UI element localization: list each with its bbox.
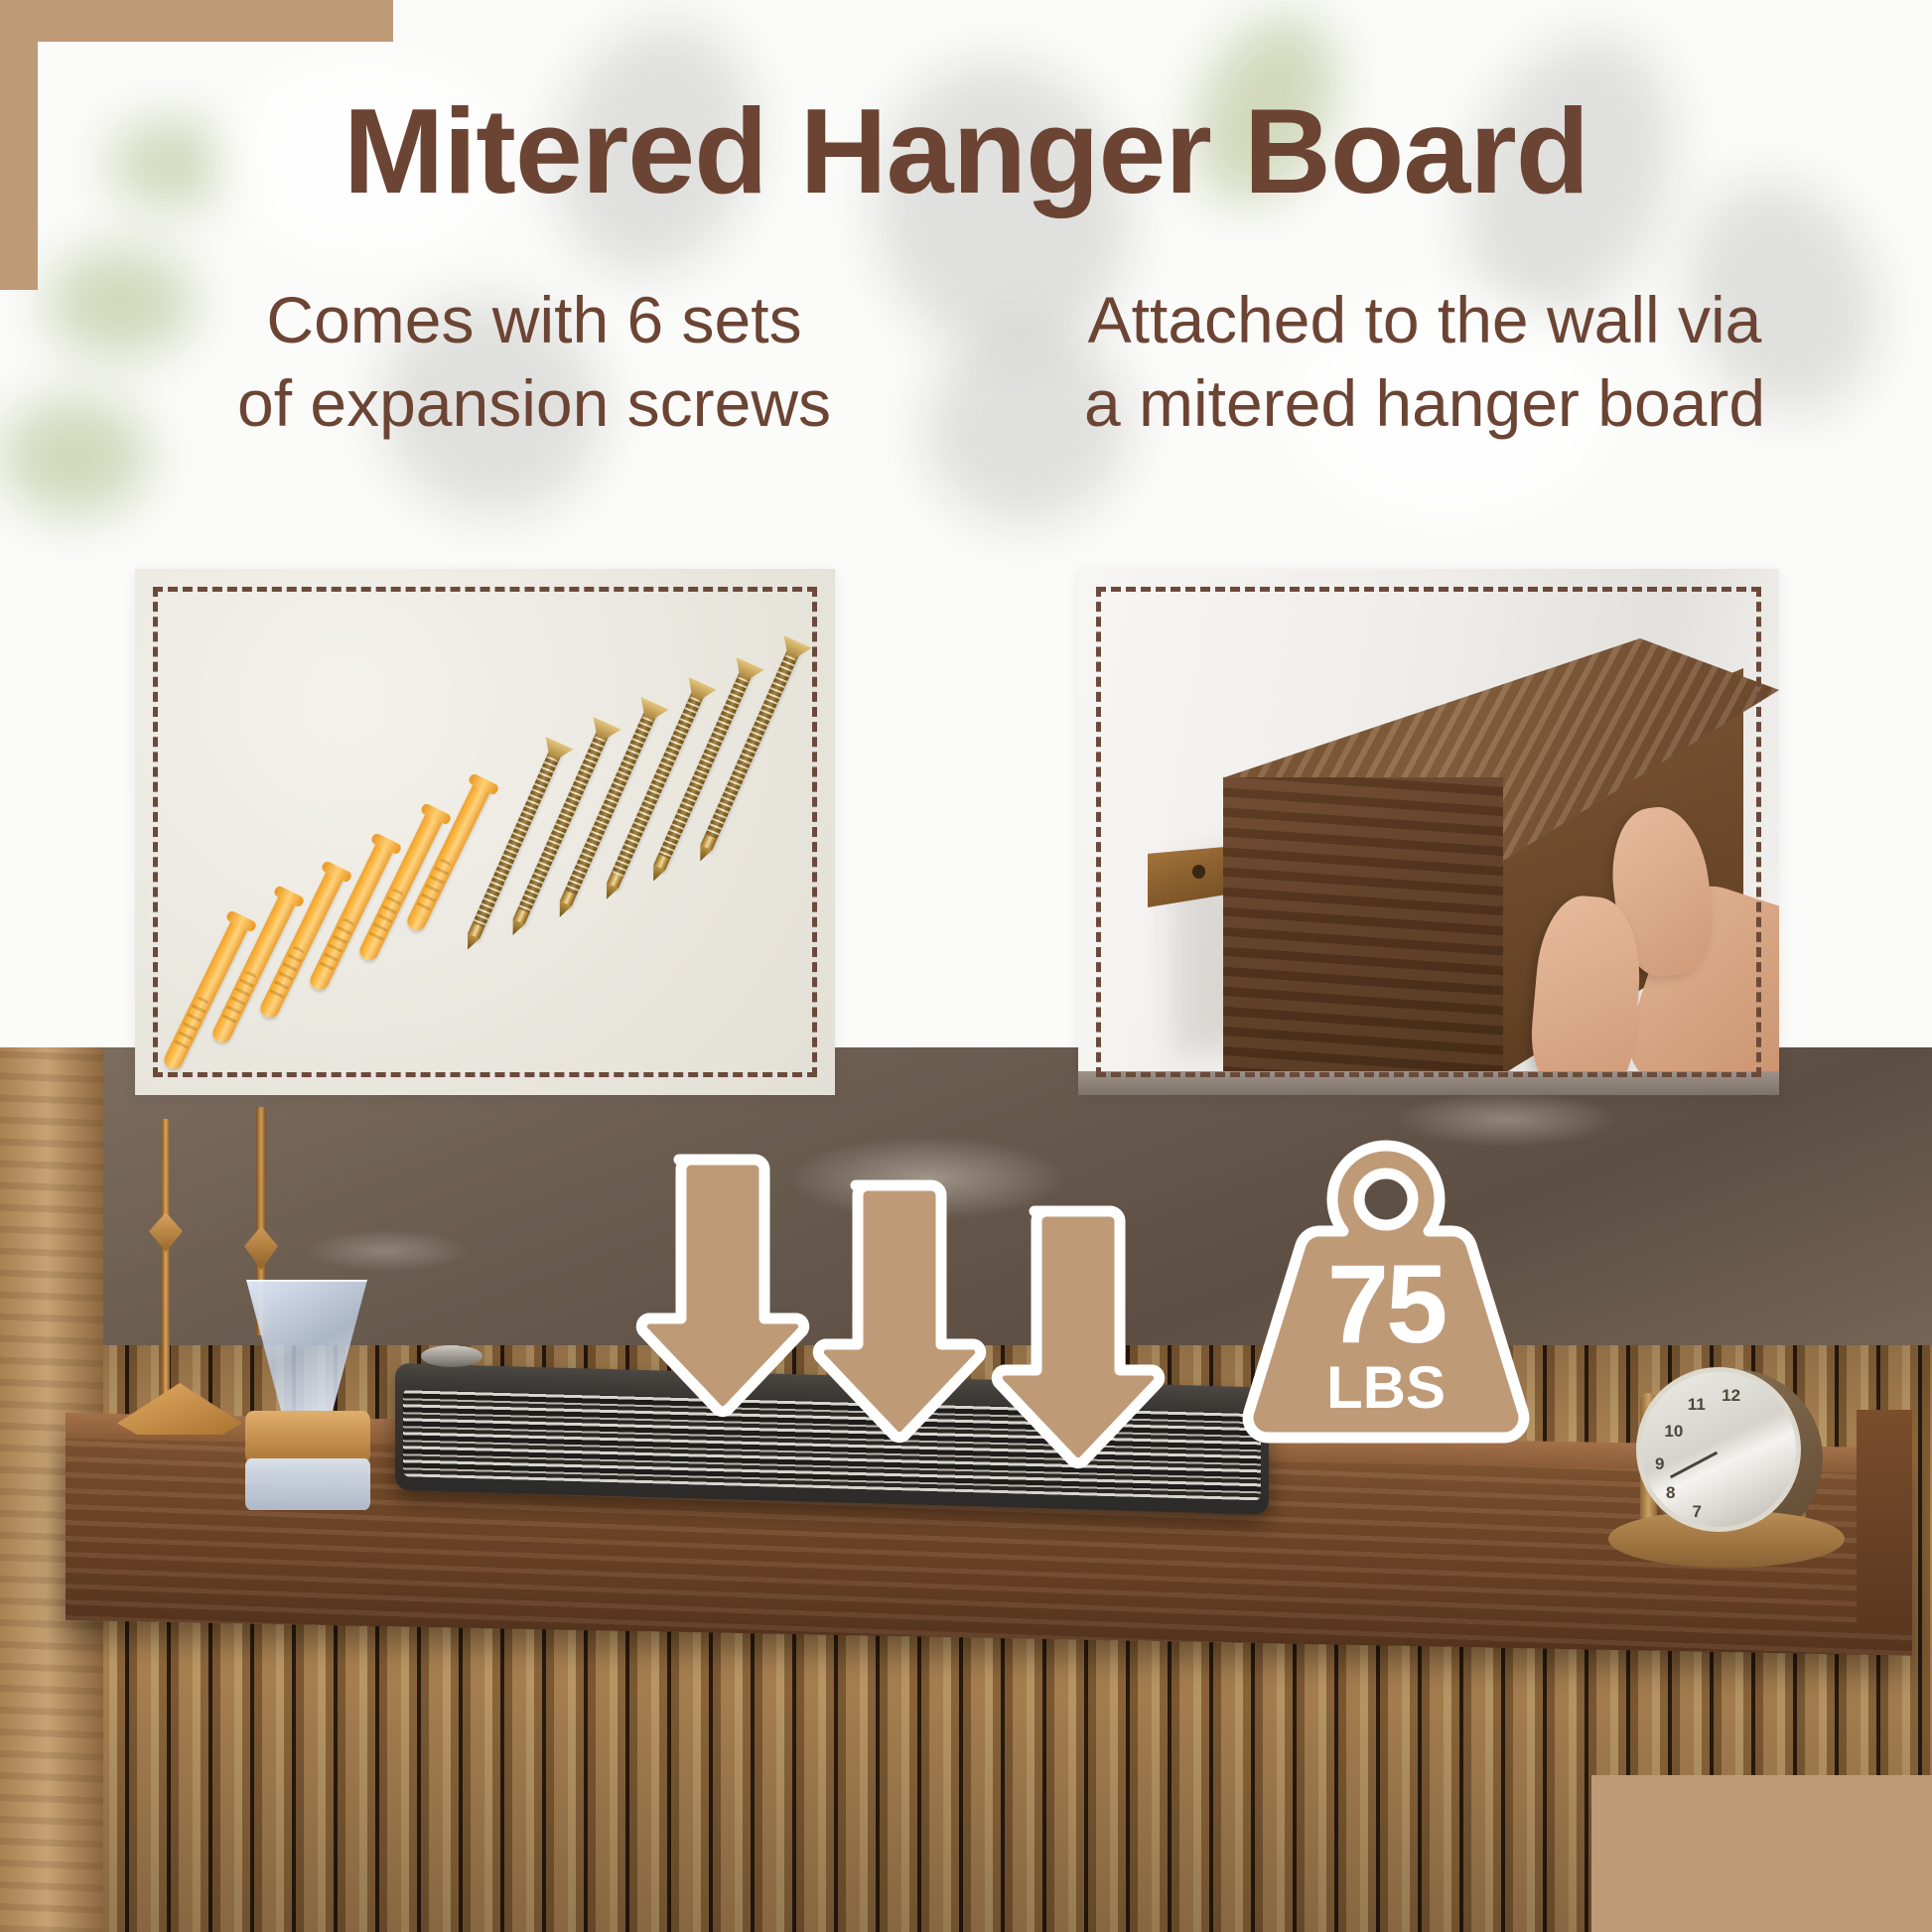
load-arrow-2 [804, 1177, 983, 1442]
vase-brass-collar [245, 1411, 370, 1464]
clock-numeral: 11 [1688, 1395, 1706, 1415]
clock-face: 12 11 10 9 8 7 [1636, 1367, 1801, 1532]
clock-numeral: 10 [1664, 1422, 1683, 1442]
feature-caption-screws: Comes with 6 sets of expansion screws [102, 278, 966, 446]
shelf-right-end [1857, 1410, 1912, 1628]
caption-line-1: Comes with 6 sets [102, 278, 966, 361]
vase-glass-foot [245, 1458, 370, 1510]
weight-capacity-badge: 75 LBS [1229, 1132, 1543, 1446]
photo-panel-screws [135, 569, 835, 1095]
caption-line-1: Attached to the wall via [993, 278, 1857, 361]
caption-line-2: of expansion screws [102, 361, 966, 445]
clock-numeral: 8 [1666, 1483, 1675, 1503]
photo-panel-hanger [1078, 569, 1779, 1095]
dashed-frame [1096, 587, 1761, 1077]
page-title: Mitered Hanger Board [0, 87, 1932, 214]
corner-accent-top [0, 0, 393, 42]
weight-value: 75 [1229, 1249, 1543, 1360]
weight-unit: LBS [1229, 1358, 1543, 1418]
soundbar-knob [421, 1345, 483, 1367]
candlestick-stem [162, 1119, 170, 1417]
dashed-frame [153, 587, 817, 1077]
load-arrow-1 [627, 1152, 806, 1416]
feature-caption-hanger: Attached to the wall via a mitered hange… [993, 278, 1857, 446]
load-arrow-3 [983, 1203, 1162, 1467]
caption-line-2: a mitered hanger board [993, 361, 1857, 445]
clock-numeral: 12 [1722, 1386, 1740, 1406]
clock-numeral: 9 [1655, 1454, 1664, 1474]
clock-numeral: 7 [1692, 1502, 1701, 1522]
corner-accent-bottom-right [1591, 1775, 1932, 1932]
